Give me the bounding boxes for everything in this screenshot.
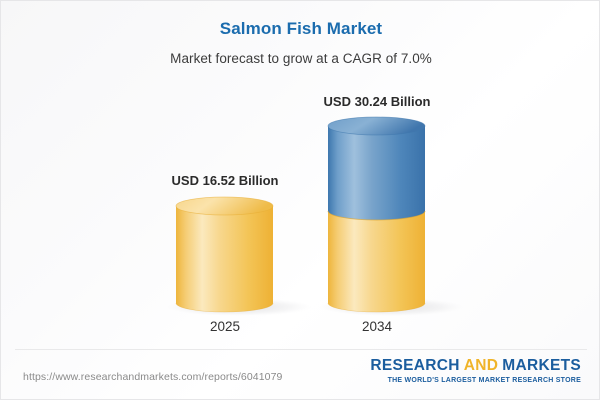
- bar-2025[interactable]: [176, 197, 273, 312]
- logo-word-and: AND: [464, 357, 498, 374]
- value-label-2025: USD 16.52 Billion: [95, 173, 355, 188]
- chart-plot-area: USD 16.52 Billion USD 30.24 Billion 2025…: [1, 1, 600, 349]
- report-url[interactable]: https://www.researchandmarkets.com/repor…: [23, 371, 282, 383]
- chart-card: Salmon Fish Market Market forecast to gr…: [0, 0, 600, 400]
- research-and-markets-logo[interactable]: RESEARCHANDMARKETS THE WORLD'S LARGEST M…: [370, 358, 581, 384]
- logo-tagline: THE WORLD'S LARGEST MARKET RESEARCH STOR…: [370, 377, 581, 384]
- category-label-2034: 2034: [277, 319, 477, 334]
- footer-divider: [15, 349, 587, 350]
- logo-word-markets: MARKETS: [502, 357, 581, 374]
- value-label-2034: USD 30.24 Billion: [247, 94, 507, 109]
- bar-2034[interactable]: [328, 117, 425, 312]
- logo-word-research: RESEARCH: [370, 357, 459, 374]
- logo-wordmark: RESEARCHANDMARKETS: [370, 358, 581, 374]
